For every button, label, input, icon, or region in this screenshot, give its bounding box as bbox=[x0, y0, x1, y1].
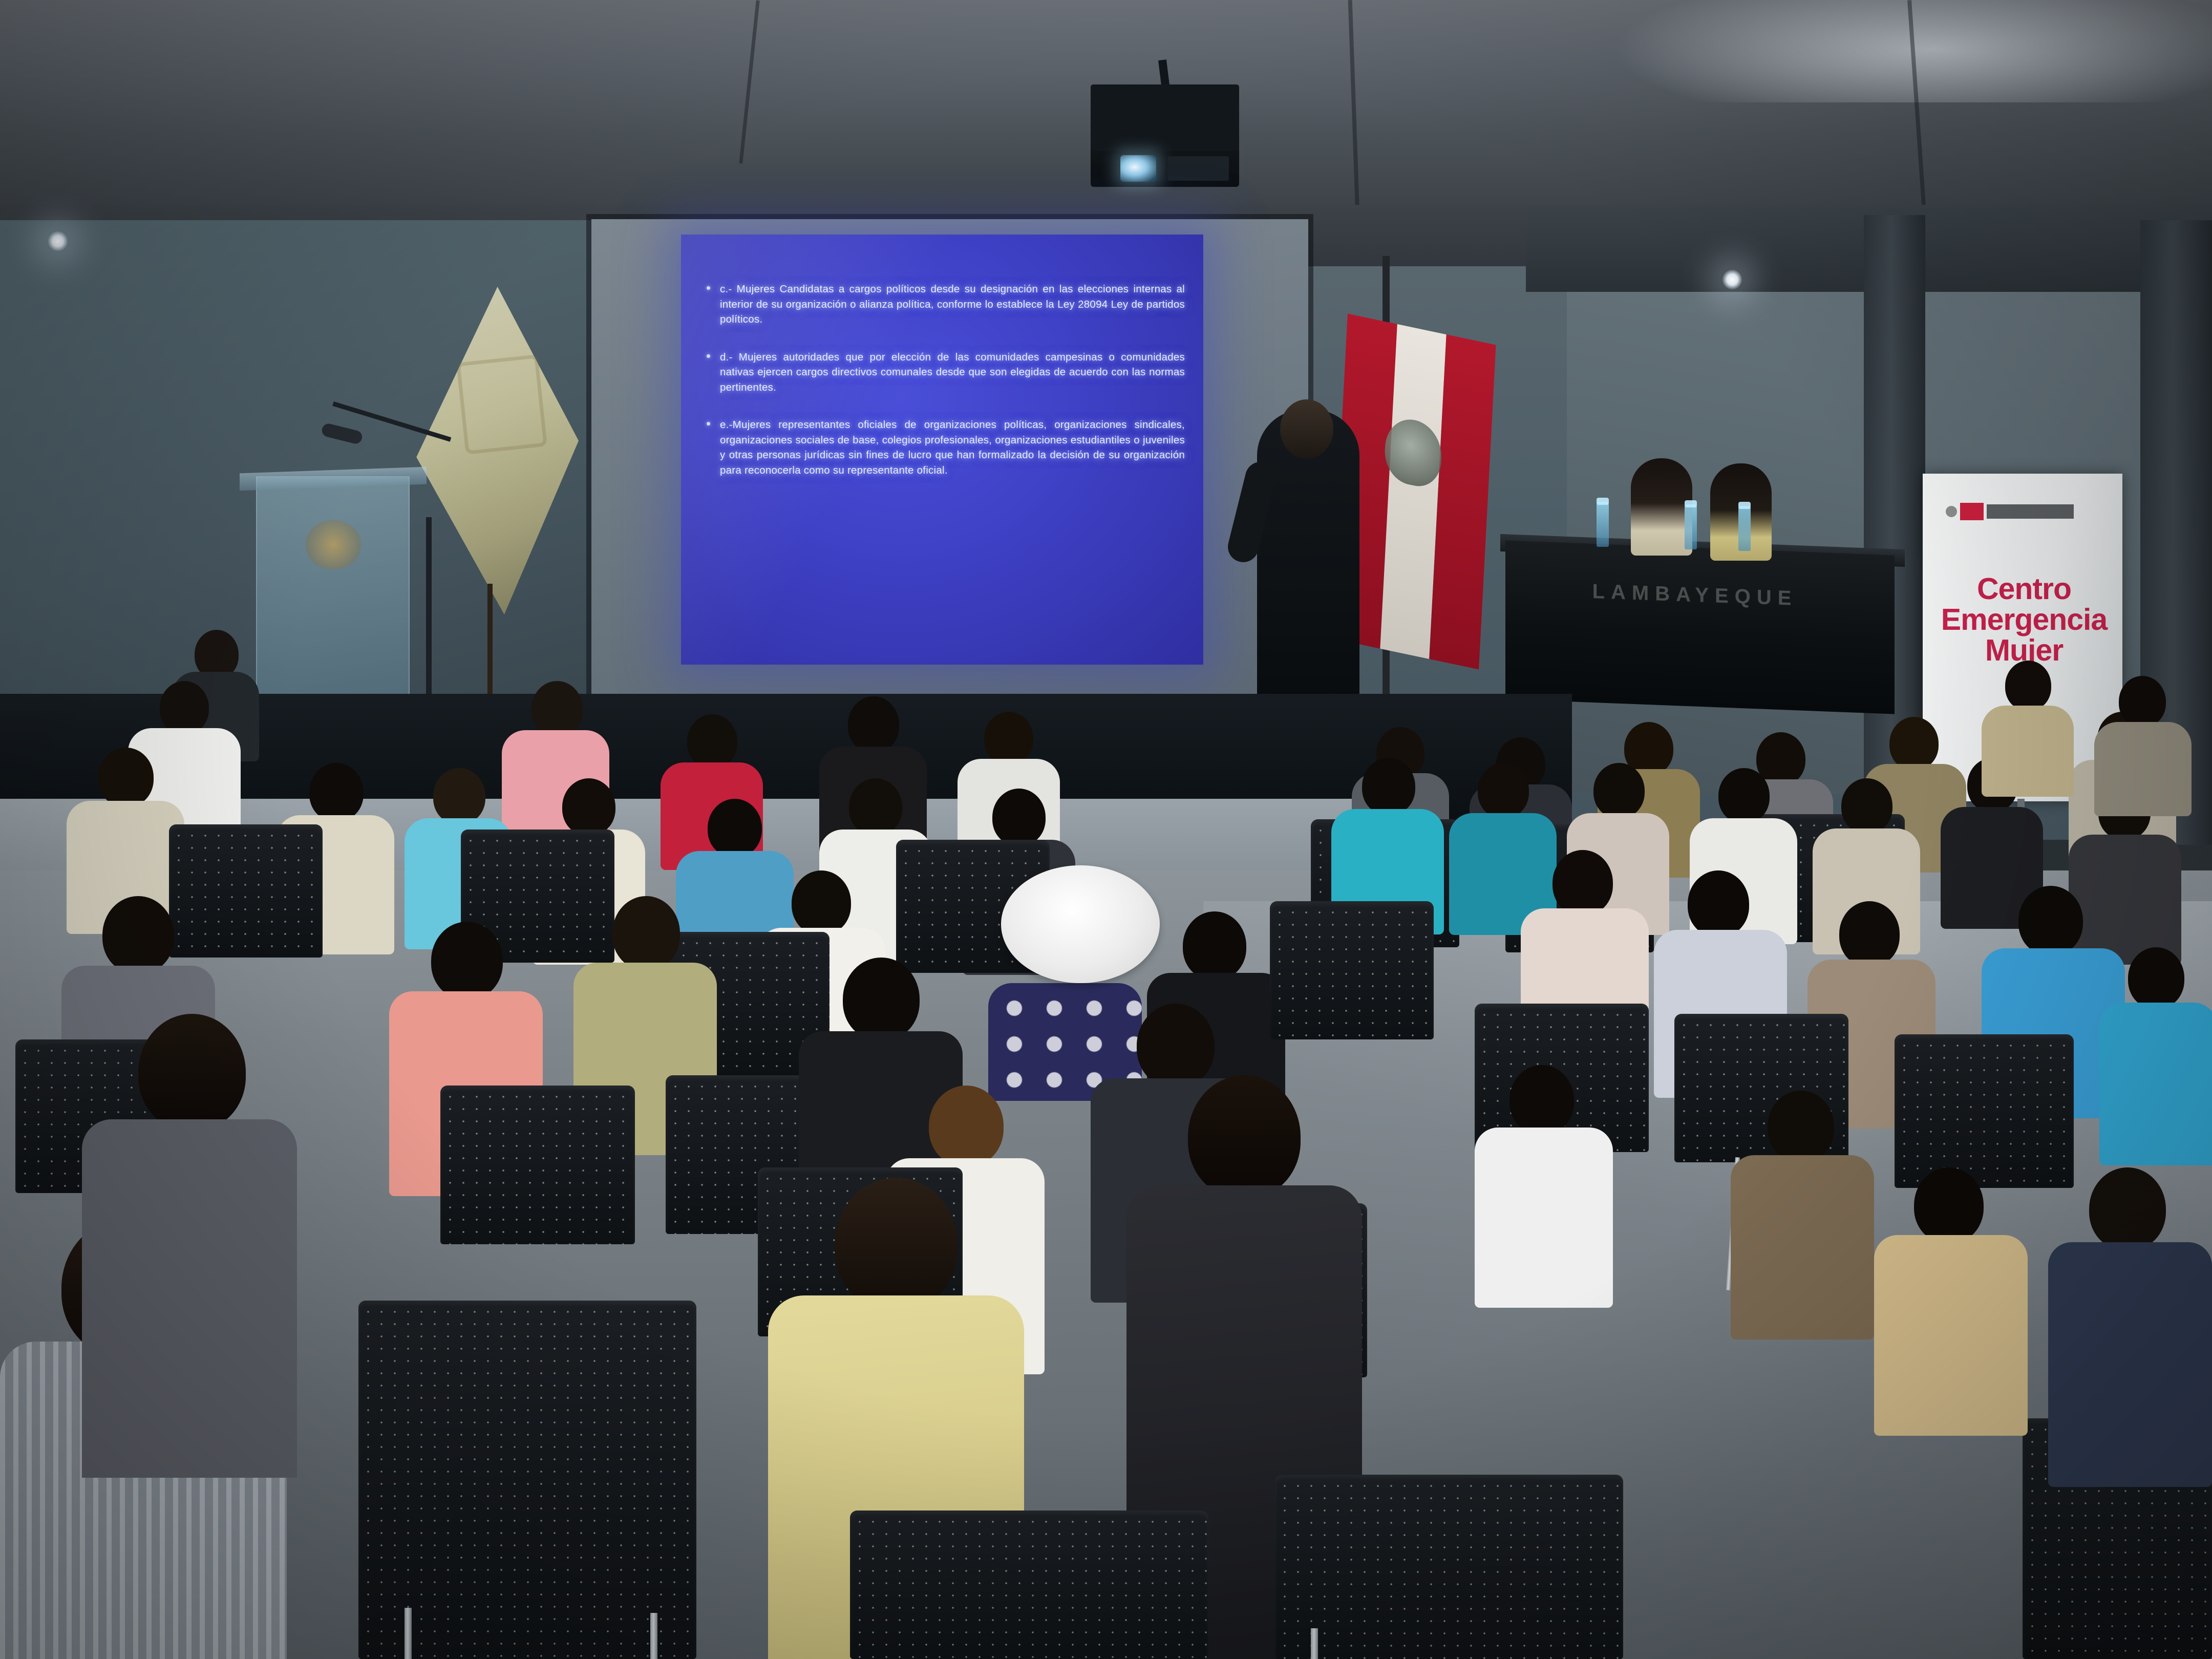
person-head bbox=[1718, 768, 1770, 823]
person-head bbox=[843, 958, 920, 1040]
chair-leg bbox=[650, 1613, 657, 1659]
chair[interactable] bbox=[1275, 1475, 1623, 1659]
chair-back bbox=[1895, 1034, 2074, 1188]
institutional-flag-emblem-icon bbox=[456, 354, 547, 455]
person-head bbox=[848, 696, 899, 753]
chair-back bbox=[1275, 1475, 1623, 1659]
microphone-stand bbox=[426, 517, 432, 722]
person-body bbox=[82, 1119, 297, 1478]
bottle-cap bbox=[1597, 498, 1609, 505]
chair[interactable] bbox=[1895, 1034, 2074, 1188]
audience-person bbox=[2099, 947, 2212, 1162]
person-head bbox=[102, 896, 174, 974]
person-body bbox=[1874, 1235, 2028, 1436]
person-head bbox=[433, 768, 485, 824]
person-head bbox=[98, 748, 154, 807]
projector-vent bbox=[1167, 156, 1229, 181]
person-head bbox=[687, 714, 737, 769]
person-head bbox=[1768, 1091, 1834, 1162]
person-head bbox=[992, 789, 1046, 846]
water-bottle bbox=[1597, 502, 1609, 547]
chair[interactable] bbox=[1270, 901, 1434, 1039]
audience-person bbox=[2048, 1167, 2212, 1485]
person-head bbox=[562, 778, 615, 836]
ministry-logo-icon bbox=[1946, 501, 2074, 522]
bottle-cap bbox=[1738, 502, 1751, 509]
person-head bbox=[1188, 1075, 1301, 1198]
person-head bbox=[1478, 763, 1529, 818]
person-head bbox=[1509, 1065, 1574, 1135]
person-head bbox=[1914, 1167, 1984, 1243]
chair-back bbox=[358, 1301, 696, 1659]
person-body bbox=[1475, 1128, 1613, 1308]
audience-person bbox=[1982, 661, 2074, 794]
person-head bbox=[138, 1014, 246, 1131]
person-head bbox=[1889, 717, 1939, 770]
chair-back bbox=[1270, 901, 1434, 1039]
chair-back bbox=[850, 1511, 1208, 1659]
person-head bbox=[2018, 886, 2083, 955]
banner-title: Centro Emergencia Mujer bbox=[1929, 573, 2119, 666]
person-head bbox=[612, 896, 680, 970]
lectern-emblem-icon bbox=[305, 520, 361, 569]
person-head bbox=[1841, 778, 1892, 834]
logo-dot-icon bbox=[1946, 506, 1957, 517]
person-head bbox=[835, 1178, 958, 1311]
projector-lens-icon bbox=[1120, 155, 1156, 182]
head-table bbox=[1505, 540, 1895, 714]
sun-hat bbox=[1001, 865, 1160, 983]
auditorium-scene: c.- Mujeres Candidatas a cargos político… bbox=[0, 0, 2212, 1659]
chair-leg bbox=[1311, 1628, 1318, 1659]
banner-line-1: Centro bbox=[1929, 573, 2119, 604]
logo-wordmark-icon bbox=[1987, 504, 2074, 519]
person-body bbox=[2094, 722, 2192, 816]
logo-red-block-icon bbox=[1960, 503, 1984, 520]
person-head bbox=[1688, 870, 1749, 937]
audience-person bbox=[1475, 1065, 1613, 1306]
person-body bbox=[2099, 1003, 2212, 1165]
person-head bbox=[1593, 763, 1645, 818]
projector-body bbox=[1091, 84, 1239, 151]
person-head bbox=[160, 681, 209, 734]
person-head bbox=[2128, 947, 2184, 1009]
person-head bbox=[1839, 901, 1900, 967]
person-head bbox=[792, 870, 851, 935]
chair[interactable] bbox=[440, 1086, 635, 1244]
water-bottle bbox=[1738, 506, 1751, 551]
wall-spotlight-right bbox=[1721, 269, 1743, 290]
person-head bbox=[1552, 850, 1613, 916]
bottle-cap bbox=[1685, 500, 1697, 507]
panelist bbox=[1631, 458, 1692, 556]
slide-bullet: c.- Mujeres Candidatas a cargos político… bbox=[703, 282, 1185, 327]
person-head bbox=[929, 1086, 1004, 1166]
ceiling-projector bbox=[1091, 84, 1239, 187]
person-body bbox=[2048, 1242, 2212, 1487]
audience-person bbox=[1731, 1091, 1874, 1336]
person-head bbox=[1362, 758, 1415, 815]
chair-back bbox=[440, 1086, 635, 1244]
person-head bbox=[431, 922, 503, 999]
audience-person-foreground bbox=[82, 1014, 297, 1475]
banner-line-2: Emergencia bbox=[1929, 604, 2119, 635]
person-head bbox=[309, 763, 364, 821]
audience-person bbox=[2094, 676, 2192, 814]
person-head bbox=[2089, 1167, 2166, 1250]
speaker-head bbox=[1280, 399, 1333, 459]
presentation-slide: c.- Mujeres Candidatas a cargos político… bbox=[681, 235, 1203, 665]
person-head bbox=[708, 799, 762, 857]
lectern bbox=[256, 476, 410, 722]
chair-leg bbox=[405, 1608, 412, 1659]
person-body bbox=[1982, 706, 2074, 797]
slide-bullet: e.-Mujeres representantes oficiales de o… bbox=[703, 417, 1185, 478]
person-head bbox=[2119, 676, 2166, 727]
person-head bbox=[531, 681, 583, 736]
wall-spotlight-left bbox=[47, 230, 69, 252]
person-head bbox=[1183, 911, 1246, 980]
chair[interactable] bbox=[358, 1301, 696, 1659]
person-head bbox=[2005, 661, 2051, 711]
chair[interactable] bbox=[850, 1511, 1208, 1659]
slide-bullet: d.- Mujeres autoridades que por elección… bbox=[703, 350, 1185, 395]
person-head bbox=[984, 712, 1033, 765]
audience-person bbox=[1874, 1167, 2028, 1434]
water-bottle bbox=[1685, 504, 1697, 549]
person-head bbox=[849, 778, 902, 836]
person-body bbox=[1731, 1155, 1874, 1339]
